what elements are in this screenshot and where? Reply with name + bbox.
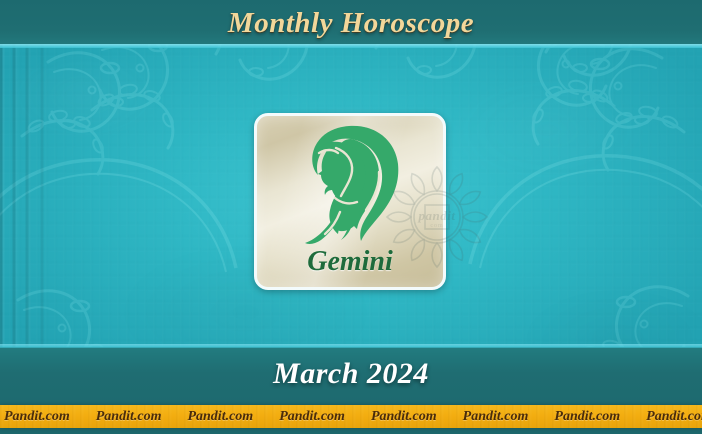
lotus-circle-icon: pandit com (385, 165, 489, 269)
ribbon-text-track: Pandit.comPandit.comPandit.comPandit.com… (0, 409, 702, 425)
ribbon-watermark-label: Pandit.com (187, 409, 253, 425)
ribbon-watermark-label: Pandit.com (371, 409, 437, 425)
ribbon-watermark-label: Pandit.com (279, 409, 345, 425)
monthly-horoscope-banner: Monthly Horoscope (0, 0, 702, 434)
watermark-label: pandit (385, 208, 489, 224)
footer-ribbon: Pandit.comPandit.comPandit.comPandit.com… (0, 405, 702, 428)
ribbon-watermark-label: Pandit.com (646, 409, 702, 425)
ribbon-watermark-label: Pandit.com (96, 409, 162, 425)
page-title: Monthly Horoscope (0, 2, 702, 44)
month-label: March 2024 (0, 352, 702, 396)
top-divider-line (0, 44, 702, 48)
ribbon-watermark-label: Pandit.com (4, 409, 70, 425)
ribbon-watermark-label: Pandit.com (463, 409, 529, 425)
bottom-divider-line (0, 344, 702, 348)
ribbon-watermark-label: Pandit.com (554, 409, 620, 425)
watermark-sublabel: com (385, 223, 489, 229)
